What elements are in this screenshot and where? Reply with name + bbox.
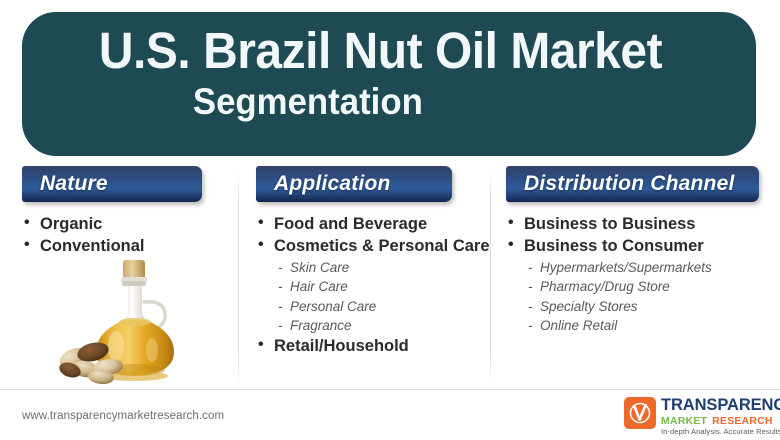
list-item: Business to Business (506, 214, 780, 235)
sub-list-item: Skin Care (274, 258, 490, 277)
sub-list-item: Hypermarkets/Supermarkets (524, 258, 780, 277)
logo-word-research: RESEARCH (712, 415, 773, 427)
column-header-label: Application (256, 172, 391, 196)
list-item: Conventional (22, 236, 238, 257)
page-subtitle: Segmentation (50, 82, 687, 123)
footer-divider (0, 389, 780, 390)
list-item: Organic (22, 214, 238, 235)
logo-name-transparency: TRANSPARENCY (661, 397, 780, 414)
checkmark-icon (624, 397, 656, 429)
column-header-nature: Nature (22, 166, 202, 202)
sub-list: Skin Care Hair Care Personal Care Fragra… (274, 258, 490, 335)
logo-wordmark: TRANSPARENCY MARKETRESEARCH In-depth Ana… (661, 396, 780, 436)
sub-list-item: Pharmacy/Drug Store (524, 277, 780, 296)
logo-word-market: MARKET (661, 415, 707, 427)
sub-list-item: Online Retail (524, 316, 780, 335)
sub-list-item: Specialty Stores (524, 297, 780, 316)
column-header-application: Application (256, 166, 452, 202)
list-item: Retail/Household (256, 336, 490, 357)
footer-website-url[interactable]: www.transparencymarketresearch.com (22, 410, 224, 422)
infographic-page: U.S. Brazil Nut Oil Market Segmentation … (0, 0, 780, 440)
column-header-label: Distribution Channel (506, 172, 735, 196)
segmentation-columns: Nature Organic Conventional (0, 166, 780, 388)
column-header-distribution-channel: Distribution Channel (506, 166, 759, 202)
segment-list-nature: Organic Conventional (22, 214, 238, 257)
sub-list-item: Fragrance (274, 316, 490, 335)
sub-list: Hypermarkets/Supermarkets Pharmacy/Drug … (524, 258, 780, 335)
list-item-label: Business to Consumer (524, 237, 704, 255)
sub-list-item: Personal Care (274, 297, 490, 316)
column-header-label: Nature (22, 172, 108, 196)
list-item: Food and Beverage (256, 214, 490, 235)
segment-list-distribution-channel: Business to Business Business to Consume… (506, 214, 780, 335)
logo-name-market-research: MARKETRESEARCH (661, 416, 780, 427)
sub-list-item: Hair Care (274, 277, 490, 296)
list-item: Cosmetics & Personal Care Skin Care Hair… (256, 236, 490, 335)
list-item-label: Cosmetics & Personal Care (274, 237, 490, 255)
page-title: U.S. Brazil Nut Oil Market (50, 24, 687, 78)
brazil-nut-oil-bottle-image (52, 258, 222, 384)
list-item: Business to Consumer Hypermarkets/Superm… (506, 236, 780, 335)
segment-column-nature: Nature Organic Conventional (0, 166, 238, 388)
segment-list-application: Food and Beverage Cosmetics & Personal C… (256, 214, 490, 357)
transparency-market-research-logo: TRANSPARENCY MARKETRESEARCH In-depth Ana… (624, 396, 770, 434)
check-circle-icon (628, 401, 652, 425)
title-banner: U.S. Brazil Nut Oil Market Segmentation (22, 12, 756, 156)
segment-column-application: Application Food and Beverage Cosmetics … (238, 166, 490, 388)
segment-column-distribution-channel: Distribution Channel Business to Busines… (490, 166, 780, 388)
logo-tagline: In-depth Analysis. Accurate Results (661, 428, 780, 436)
